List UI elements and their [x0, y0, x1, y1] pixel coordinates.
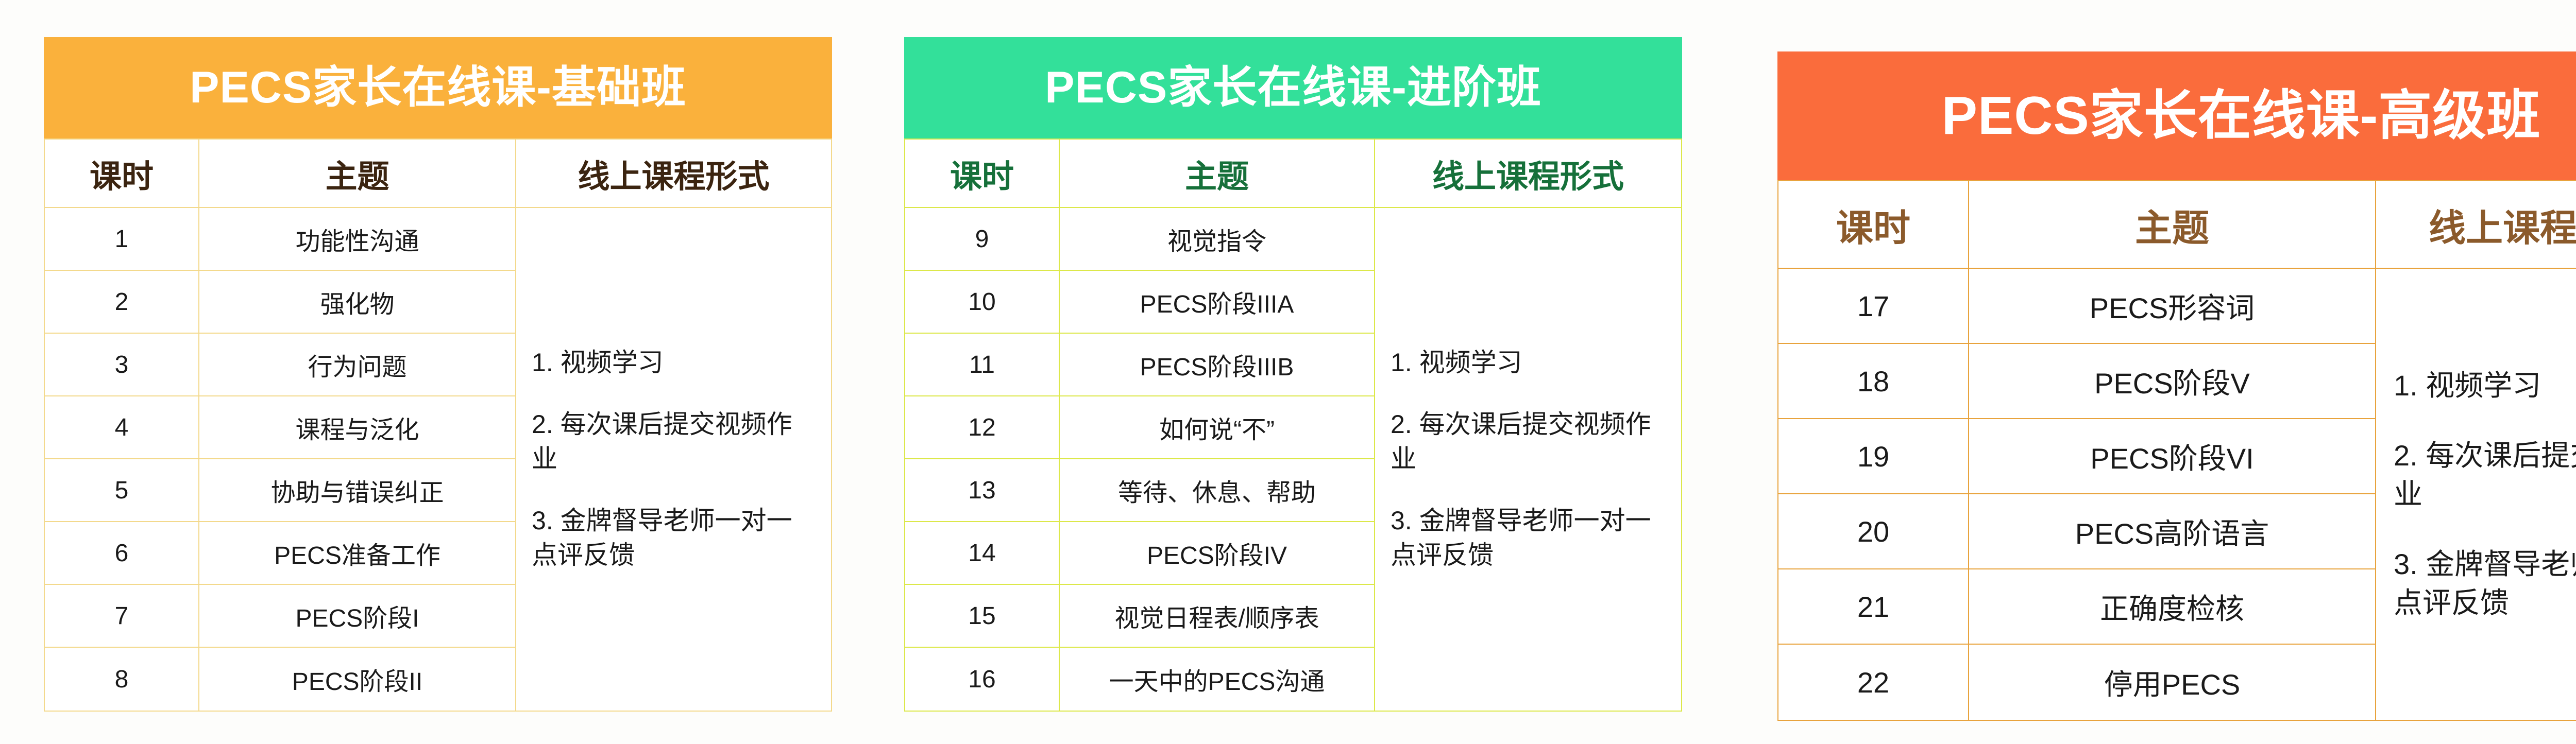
table-row: PECS高阶语言 [1969, 494, 2375, 569]
table-row: 3 [45, 334, 198, 396]
course-table-advanced-title: PECS家长在线课-进阶班 [904, 37, 1682, 139]
table-row: 如何说“不” [1060, 396, 1374, 459]
table-row: PECS阶段IV [1060, 522, 1374, 585]
table-row: 5 [45, 459, 198, 522]
format-list: 1. 视频学习 2. 每次课后提交视频作业 3. 金牌督导老师一对一点评反馈 [516, 208, 831, 711]
course-table-expert-title: PECS家长在线课-高级班 [1777, 51, 2576, 180]
column-lesson: 课时 1 2 3 4 5 6 7 8 [45, 140, 199, 711]
table-row: 课程与泛化 [199, 396, 515, 459]
format-item: 1. 视频学习 [2394, 366, 2576, 405]
table-row: 功能性沟通 [199, 208, 515, 271]
format-item: 3. 金牌督导老师一对一点评反馈 [2394, 545, 2576, 622]
course-table-expert: PECS家长在线课-高级班 课时 17 18 19 20 21 22 主题 PE… [1777, 51, 2576, 721]
table-row: 19 [1778, 419, 1968, 494]
format-item: 2. 每次课后提交视频作业 [2394, 436, 2576, 514]
column-topic: 主题 功能性沟通 强化物 行为问题 课程与泛化 协助与错误纠正 PECS准备工作… [199, 140, 516, 711]
table-row: 正确度检核 [1969, 569, 2375, 645]
table-row: 13 [905, 459, 1059, 522]
table-row: 一天中的PECS沟通 [1060, 648, 1374, 711]
course-table-advanced-grid: 课时 9 10 11 12 13 14 15 16 主题 视觉指令 PECS阶段… [904, 139, 1682, 712]
column-header-lesson: 课时 [45, 140, 198, 208]
format-item: 1. 视频学习 [1391, 345, 1666, 380]
table-row: 20 [1778, 494, 1968, 569]
column-topic: 主题 视觉指令 PECS阶段IIIA PECS阶段IIIB 如何说“不” 等待、… [1060, 140, 1375, 711]
course-table-advanced: PECS家长在线课-进阶班 课时 9 10 11 12 13 14 15 16 … [904, 37, 1682, 712]
table-row: 21 [1778, 569, 1968, 645]
table-row: 等待、休息、帮助 [1060, 459, 1374, 522]
format-list: 1. 视频学习 2. 每次课后提交视频作业 3. 金牌督导老师一对一点评反馈 [1375, 208, 1681, 711]
column-topic: 主题 PECS形容词 PECS阶段V PECS阶段VI PECS高阶语言 正确度… [1969, 181, 2376, 720]
column-header-topic: 主题 [199, 140, 515, 208]
column-format: 线上课程形式 1. 视频学习 2. 每次课后提交视频作业 3. 金牌督导老师一对… [2376, 181, 2576, 720]
course-schedule-board: PECS家长在线课-基础班 课时 1 2 3 4 5 6 7 8 主题 功能性沟… [0, 0, 2576, 744]
table-row: PECS阶段IIIB [1060, 334, 1374, 396]
table-row: 协助与错误纠正 [199, 459, 515, 522]
format-item: 3. 金牌督导老师一对一点评反馈 [1391, 504, 1666, 573]
column-lesson: 课时 17 18 19 20 21 22 [1778, 181, 1969, 720]
table-row: 18 [1778, 344, 1968, 419]
column-header-topic: 主题 [1969, 181, 2375, 269]
table-row: 行为问题 [199, 334, 515, 396]
table-row: 12 [905, 396, 1059, 459]
table-row: 强化物 [199, 271, 515, 334]
table-row: 10 [905, 271, 1059, 334]
column-format: 线上课程形式 1. 视频学习 2. 每次课后提交视频作业 3. 金牌督导老师一对… [1375, 140, 1681, 711]
table-row: 停用PECS [1969, 645, 2375, 720]
table-row: PECS阶段VI [1969, 419, 2375, 494]
format-item: 2. 每次课后提交视频作业 [1391, 407, 1666, 477]
table-row: 17 [1778, 269, 1968, 344]
column-header-format: 线上课程形式 [516, 140, 831, 208]
table-row: 15 [905, 585, 1059, 648]
table-row: 1 [45, 208, 198, 271]
table-row: 4 [45, 396, 198, 459]
table-row: 14 [905, 522, 1059, 585]
table-row: 2 [45, 271, 198, 334]
column-lesson: 课时 9 10 11 12 13 14 15 16 [905, 140, 1060, 711]
table-row: 7 [45, 585, 198, 648]
format-item: 2. 每次课后提交视频作业 [532, 407, 816, 477]
table-row: PECS阶段I [199, 585, 515, 648]
table-row: PECS阶段IIIA [1060, 271, 1374, 334]
format-list: 1. 视频学习 2. 每次课后提交视频作业 3. 金牌督导老师一对一点评反馈 [2376, 269, 2576, 720]
table-row: 8 [45, 648, 198, 711]
table-row: 11 [905, 334, 1059, 396]
column-header-lesson: 课时 [905, 140, 1059, 208]
table-row: 16 [905, 648, 1059, 711]
format-item: 3. 金牌督导老师一对一点评反馈 [532, 504, 816, 573]
course-table-basic-title: PECS家长在线课-基础班 [44, 37, 832, 139]
table-row: 9 [905, 208, 1059, 271]
table-row: 视觉日程表/顺序表 [1060, 585, 1374, 648]
course-table-expert-grid: 课时 17 18 19 20 21 22 主题 PECS形容词 PECS阶段V … [1777, 180, 2576, 721]
table-row: 视觉指令 [1060, 208, 1374, 271]
table-row: PECS阶段V [1969, 344, 2375, 419]
column-header-format: 线上课程形式 [2376, 181, 2576, 269]
table-row: 22 [1778, 645, 1968, 720]
course-table-basic-grid: 课时 1 2 3 4 5 6 7 8 主题 功能性沟通 强化物 行为问题 课程与… [44, 139, 832, 712]
format-item: 1. 视频学习 [532, 345, 816, 380]
column-header-format: 线上课程形式 [1375, 140, 1681, 208]
column-format: 线上课程形式 1. 视频学习 2. 每次课后提交视频作业 3. 金牌督导老师一对… [516, 140, 831, 711]
column-header-topic: 主题 [1060, 140, 1374, 208]
table-row: PECS准备工作 [199, 522, 515, 585]
table-row: PECS形容词 [1969, 269, 2375, 344]
column-header-lesson: 课时 [1778, 181, 1968, 269]
course-table-basic: PECS家长在线课-基础班 课时 1 2 3 4 5 6 7 8 主题 功能性沟… [44, 37, 832, 712]
table-row: 6 [45, 522, 198, 585]
table-row: PECS阶段II [199, 648, 515, 711]
